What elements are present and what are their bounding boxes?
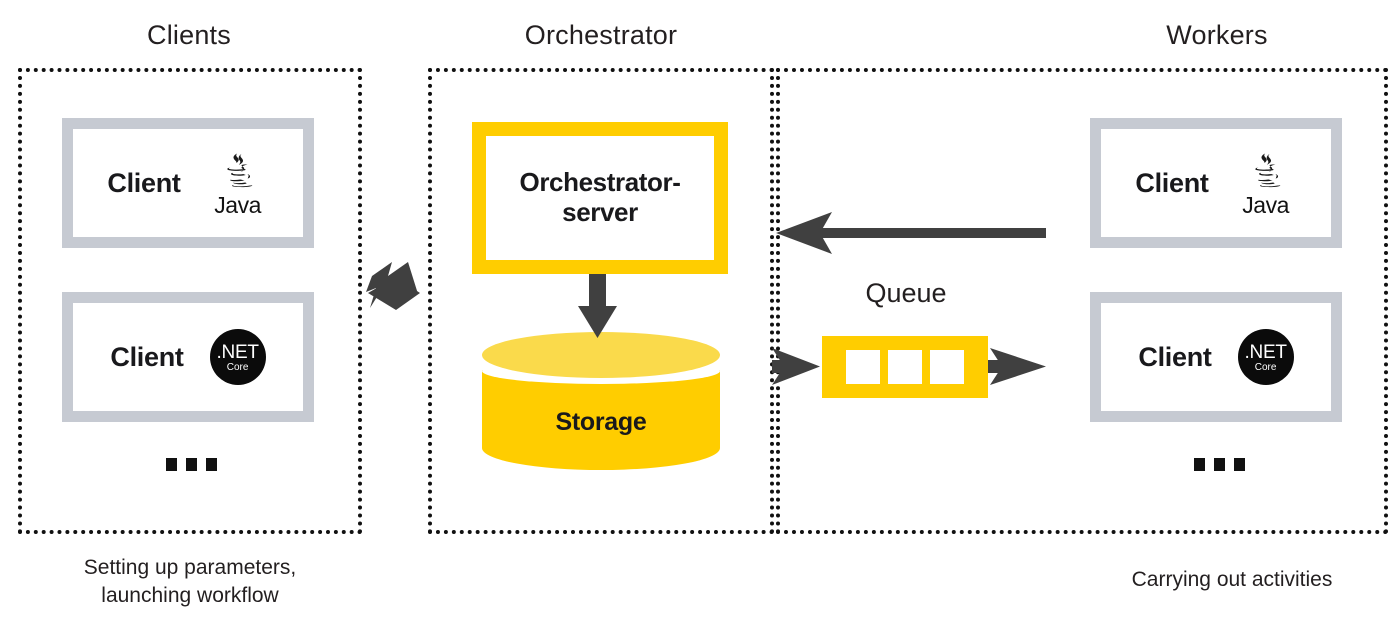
dotnet-sub-text: Core bbox=[1255, 363, 1277, 373]
java-coffee-cup-icon: Java bbox=[1235, 149, 1297, 217]
java-coffee-cup-icon: Java bbox=[207, 149, 269, 217]
storage-cylinder[interactable]: Storage bbox=[482, 332, 720, 480]
queue-label: Queue bbox=[826, 278, 986, 309]
client-card-java[interactable]: Client Java bbox=[62, 118, 314, 248]
caption-workers: Carrying out activities bbox=[1062, 566, 1400, 594]
workers-more-indicator bbox=[1194, 458, 1245, 471]
storage-cylinder-top bbox=[482, 332, 720, 378]
queue-slot bbox=[846, 350, 880, 384]
column-heading-clients: Clients bbox=[18, 20, 360, 51]
client-card-java-inner: Client Java bbox=[73, 129, 303, 237]
dotnet-core-icon: .NET Core bbox=[1238, 329, 1294, 385]
dotnet-core-icon: .NET Core bbox=[210, 329, 266, 385]
orchestrator-server-label: Orchestrator- server bbox=[520, 168, 681, 228]
column-heading-workers: Workers bbox=[1046, 20, 1388, 51]
worker-card-dotnet-inner: Client .NET Core bbox=[1101, 303, 1331, 411]
queue-slot bbox=[888, 350, 922, 384]
dotnet-main-text: .NET bbox=[217, 343, 259, 362]
worker-card-java[interactable]: Client Java bbox=[1090, 118, 1342, 248]
clients-orchestrator-double-arrow-icon bbox=[366, 262, 420, 310]
dotnet-main-text: .NET bbox=[1245, 343, 1287, 362]
orchestrator-server-box[interactable]: Orchestrator- server bbox=[472, 122, 728, 274]
worker-card-dotnet[interactable]: Client .NET Core bbox=[1090, 292, 1342, 422]
dotnet-sub-text: Core bbox=[227, 363, 249, 373]
clients-more-indicator bbox=[166, 458, 217, 471]
caption-clients: Setting up parameters, launching workflo… bbox=[20, 554, 360, 611]
client-card-dotnet[interactable]: Client .NET Core bbox=[62, 292, 314, 422]
worker-card-java-inner: Client Java bbox=[1101, 129, 1331, 237]
storage-label: Storage bbox=[482, 408, 720, 437]
client-card-dotnet-inner: Client .NET Core bbox=[73, 303, 303, 411]
client-card-java-label: Client bbox=[107, 168, 180, 199]
worker-card-java-label: Client bbox=[1135, 168, 1208, 199]
client-card-dotnet-label: Client bbox=[110, 342, 183, 373]
queue-box[interactable] bbox=[822, 336, 988, 398]
queue-slot bbox=[930, 350, 964, 384]
column-heading-orchestrator: Orchestrator bbox=[428, 20, 774, 51]
java-wordmark: Java bbox=[214, 194, 261, 217]
architecture-diagram: Clients Orchestrator Workers Client bbox=[0, 0, 1400, 628]
worker-card-dotnet-label: Client bbox=[1138, 342, 1211, 373]
orchestrator-server-inner: Orchestrator- server bbox=[486, 136, 714, 260]
java-wordmark: Java bbox=[1242, 194, 1289, 217]
